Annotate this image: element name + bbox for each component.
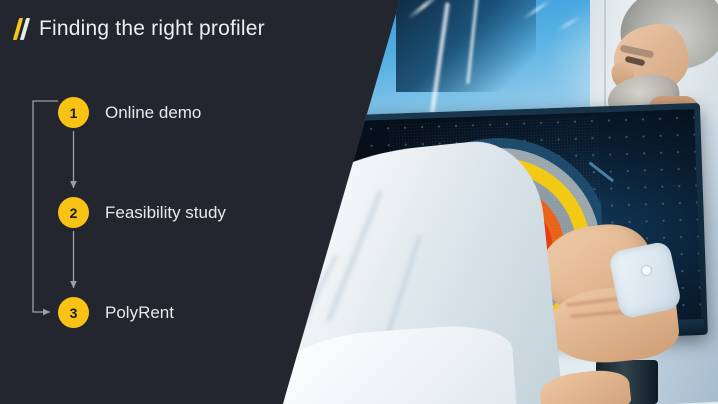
step-badge-1: 1 — [58, 97, 89, 128]
step-item-3[interactable]: 3 PolyRent — [58, 297, 174, 328]
step-badge-2: 2 — [58, 197, 89, 228]
step-label-2: Feasibility study — [105, 203, 226, 223]
step-badge-3: 3 — [58, 297, 89, 328]
step-flow: 1 Online demo 2 Feasibility study 3 Poly… — [0, 0, 283, 404]
slide-root: Finding the right profiler 1 Online demo… — [0, 0, 718, 404]
connector-loop-1-to-3 — [33, 101, 58, 312]
cuff-button — [642, 266, 651, 275]
step-item-2[interactable]: 2 Feasibility study — [58, 197, 226, 228]
step-item-1[interactable]: 1 Online demo — [58, 97, 201, 128]
step-label-3: PolyRent — [105, 303, 174, 323]
step-label-1: Online demo — [105, 103, 201, 123]
